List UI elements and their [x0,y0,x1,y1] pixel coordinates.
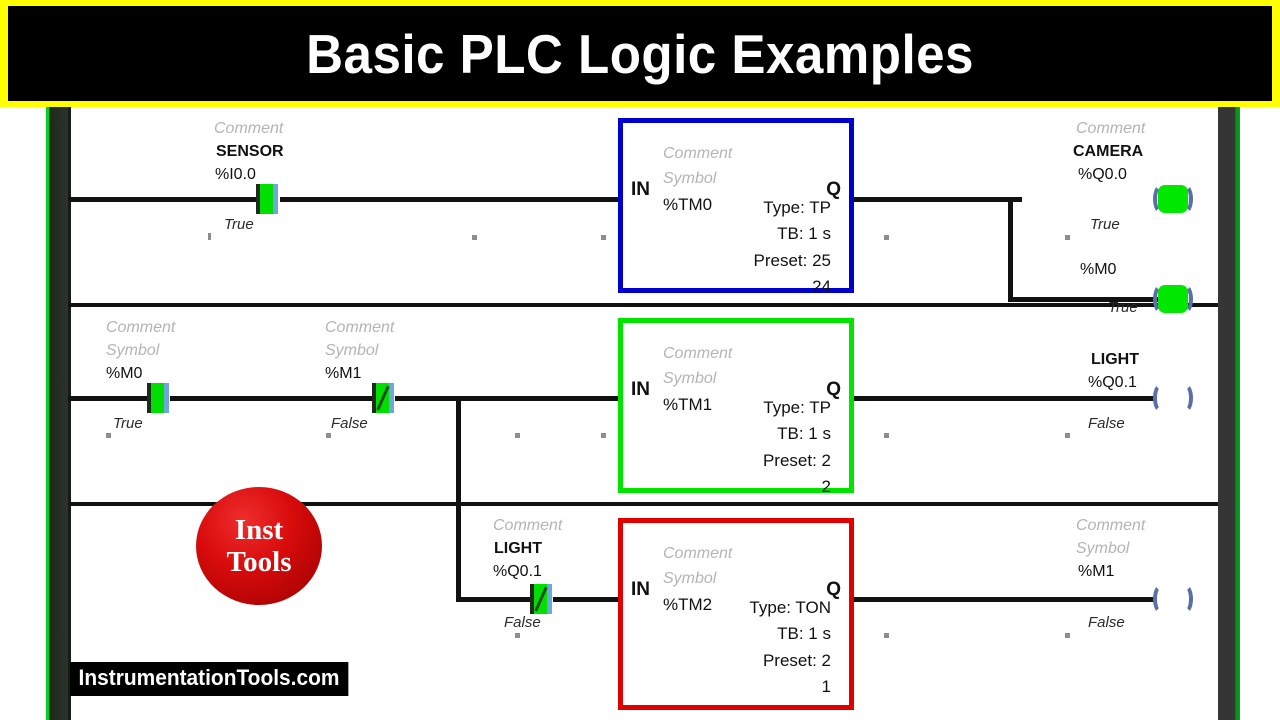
contact-light-q0-1-nc[interactable] [530,584,552,614]
coil-right-paren [1177,284,1193,314]
timer-tm1-current: 2 [763,474,831,500]
rung-3-input-address: %Q0.1 [493,564,542,581]
rung-3-wire-right [854,597,1156,602]
rung-2-output-state: False [1088,416,1125,432]
rung-2-input1-symbol: Symbol [106,343,159,360]
coil-right-paren [1177,383,1193,413]
timer-tm1-tb: TB: 1 s [763,421,831,447]
timer-tm1-instance: %TM1 [663,395,712,415]
timer-tm0-in-terminal: IN [631,179,650,201]
rung-3-input-state: False [504,615,541,631]
rung-3-output-address: %M1 [1078,564,1114,581]
contact-m0[interactable] [147,383,169,413]
coil-camera-q0-0[interactable] [1153,184,1193,214]
timer-tm2-preset: Preset: 2 [749,648,831,674]
rung-3-input-name: LIGHT [494,541,542,558]
timer-tm0-current: 24 [754,274,832,300]
grid-dot [326,433,331,438]
rung-1-input-address: %I0.0 [215,167,256,184]
ladder-canvas[interactable]: Comment SENSOR %I0.0 True IN Q Comment S… [68,107,1218,720]
rung-1-branch-vertical [1008,197,1013,302]
coil-left-paren [1153,584,1169,614]
coil-light-q0-1[interactable] [1153,383,1193,413]
window-right-filler [1240,107,1280,720]
rung-1-output2-address: %M0 [1080,262,1116,279]
coil-left-paren [1153,284,1169,314]
rung-1-input-name: SENSOR [216,144,284,161]
timer-block-tm0[interactable]: IN Q Comment Symbol %TM0 Type: TP TB: 1 … [618,118,854,293]
timer-tm0-comment: Comment [663,145,732,163]
rung-1-input-state: True [224,217,254,233]
rung-3-input-comment: Comment [493,518,562,535]
timer-tm0-tb: TB: 1 s [754,221,832,247]
timer-tm0-instance: %TM0 [663,195,712,215]
rung-3-wire-mid [553,597,618,602]
rung-2-input2-address: %M1 [325,366,361,383]
rung-3-output-state: False [1088,615,1125,631]
window-left-edge [46,107,68,720]
grid-dot [1065,633,1070,638]
rung-1-output-name: CAMERA [1073,144,1143,161]
timer-tm0-preset: Preset: 25 [754,248,832,274]
timer-tm2-current: 1 [749,674,831,700]
timer-tm2-instance: %TM2 [663,595,712,615]
rung-2-input2-comment: Comment [325,320,394,337]
window-right-edge [1218,107,1240,720]
grid-dot [884,633,889,638]
timer-tm1-type: Type: TP [763,395,831,421]
timer-tm1-parameters: Type: TP TB: 1 s Preset: 2 2 [763,395,831,500]
timer-tm1-preset: Preset: 2 [763,448,831,474]
timer-tm2-parameters: Type: TON TB: 1 s Preset: 2 1 [749,595,831,700]
page-title: Basic PLC Logic Examples [306,22,974,86]
timer-tm1-symbol: Symbol [663,370,716,388]
rung-2-input2-symbol: Symbol [325,343,378,360]
timer-tm2-comment: Comment [663,545,732,563]
timer-tm0-parameters: Type: TP TB: 1 s Preset: 25 24 [754,195,832,300]
grid-dot [515,433,520,438]
coil-m1[interactable] [1153,584,1193,614]
timer-block-tm1[interactable]: IN Q Comment Symbol %TM1 Type: TP TB: 1 … [618,318,854,493]
plc-ladder-screenshot: Basic PLC Logic Examples Comment SENSOR … [0,0,1280,720]
rung-2-wire-right [854,396,1156,401]
contact-sensor-i0-0[interactable] [256,184,278,214]
rung-1-wire-right [854,197,1022,202]
grid-dot [884,235,889,240]
rung-2-input1-address: %M0 [106,366,142,383]
logo-line-2: Tools [226,546,291,578]
contact-m1-nc[interactable] [372,383,394,413]
rung-1-output-comment: Comment [1076,121,1145,138]
coil-right-paren [1177,184,1193,214]
rung-2-branch-wire [456,597,531,602]
rung-1-output-state: True [1090,217,1120,233]
timer-tm0-type: Type: TP [754,195,832,221]
rung-1-wire-mid [280,197,618,202]
grid-dot [472,235,477,240]
rung-1-output2-state: True [1108,300,1138,316]
rung-2-output-name: LIGHT [1091,352,1139,369]
title-banner-inner: Basic PLC Logic Examples [8,6,1272,101]
title-banner: Basic PLC Logic Examples [0,0,1280,107]
logo-line-1: Inst [235,514,283,546]
rung-3-output-comment: Comment [1076,518,1145,535]
coil-left-paren [1153,184,1169,214]
coil-right-paren [1177,584,1193,614]
grid-dot [515,633,520,638]
rung-3-output-symbol: Symbol [1076,541,1129,558]
grid-dot [601,235,606,240]
grid-dot [208,233,211,240]
rung-2-branch-vertical [456,396,461,602]
timer-tm2-in-terminal: IN [631,579,650,601]
rung-2-input2-state: False [331,416,368,432]
rung-1-output-address: %Q0.0 [1078,167,1127,184]
coil-m0[interactable] [1153,284,1193,314]
timer-tm1-in-terminal: IN [631,379,650,401]
rung-2-input1-comment: Comment [106,320,175,337]
grid-dot [106,433,111,438]
rung-2-wire-left [68,396,148,401]
timer-tm2-tb: TB: 1 s [749,621,831,647]
rung-separator-1 [68,303,1218,307]
timer-block-tm2[interactable]: IN Q Comment Symbol %TM2 Type: TON TB: 1… [618,518,854,710]
rung-2-wire-mid1 [170,396,373,401]
rung-1-wire-left [68,197,258,202]
coil-left-paren [1153,383,1169,413]
site-watermark: InstrumentationTools.com [70,662,348,696]
timer-tm1-comment: Comment [663,345,732,363]
grid-dot [884,433,889,438]
grid-dot [1065,433,1070,438]
rung-2-wire-mid2 [395,396,618,401]
timer-tm0-symbol: Symbol [663,170,716,188]
timer-tm2-type: Type: TON [749,595,831,621]
rung-1-input-comment: Comment [214,121,283,138]
grid-dot [1065,235,1070,240]
timer-tm2-symbol: Symbol [663,570,716,588]
rung-2-output-address: %Q0.1 [1088,375,1137,392]
rung-2-input1-state: True [113,416,143,432]
inst-tools-logo: Inst Tools [196,487,322,605]
grid-dot [601,433,606,438]
